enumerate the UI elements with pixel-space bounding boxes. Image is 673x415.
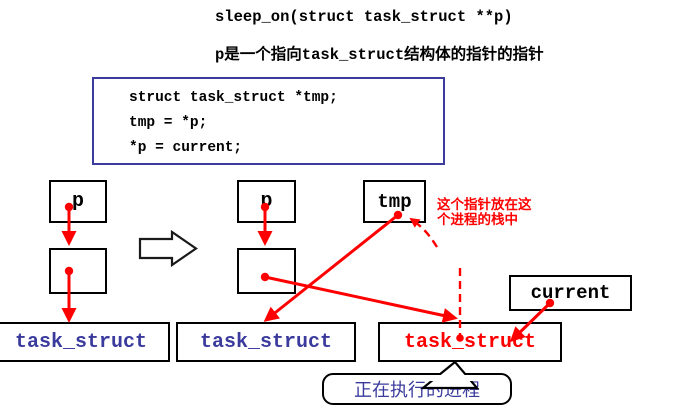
tmp-variable-box: tmp bbox=[363, 180, 426, 223]
diagram-canvas: sleep_on(struct task_struct **p) p是一个指向t… bbox=[0, 0, 673, 415]
red-annotation-line-2: 个进程的栈中 bbox=[437, 212, 532, 227]
before-pointer-target-box bbox=[49, 248, 107, 294]
code-line-2: tmp = *p; bbox=[129, 115, 207, 131]
task-struct-box-before: task_struct bbox=[0, 322, 170, 362]
after-pointer-p-box: p bbox=[237, 180, 296, 223]
stack-note-dashed-connector bbox=[411, 219, 437, 247]
task-struct-box-current: task_struct bbox=[378, 322, 562, 362]
transition-block-arrow bbox=[140, 232, 196, 265]
before-pointer-p-box: p bbox=[49, 180, 107, 223]
current-variable-box: current bbox=[509, 275, 632, 311]
function-description-text: p是一个指向task_struct结构体的指针的指针 bbox=[215, 42, 544, 64]
code-block: struct task_struct *tmp; tmp = *p; *p = … bbox=[92, 77, 445, 165]
running-process-callout: 正在执行的进程 bbox=[322, 373, 512, 405]
after-pointer-target-box bbox=[237, 248, 296, 294]
red-annotation-line-1: 这个指针放在这 bbox=[437, 197, 532, 212]
task-struct-box-after: task_struct bbox=[176, 322, 356, 362]
code-line-3: *p = current; bbox=[129, 140, 242, 156]
red-annotation-note: 这个指针放在这 个进程的栈中 bbox=[437, 197, 532, 227]
function-signature-title: sleep_on(struct task_struct **p) bbox=[215, 8, 513, 26]
code-line-1: struct task_struct *tmp; bbox=[129, 90, 338, 106]
